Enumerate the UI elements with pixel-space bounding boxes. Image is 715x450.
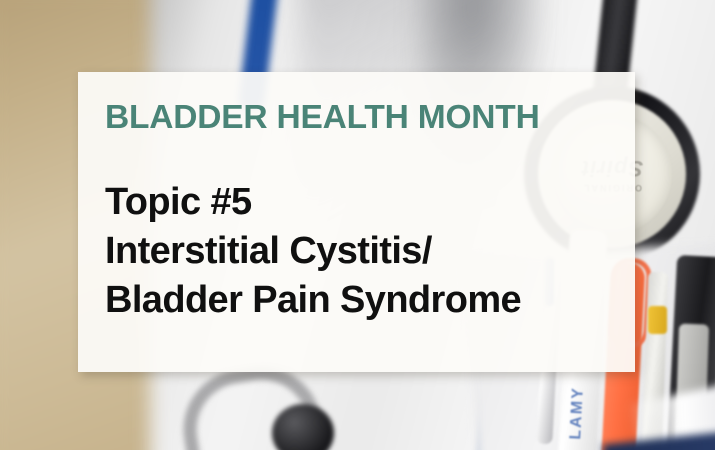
- title-card: BLADDER HEALTH MONTH Topic #5 Interstiti…: [78, 72, 635, 372]
- graphic-canvas: ORIGINAL Spirit LAMY BLADDER HEALTH MONT…: [0, 0, 715, 450]
- title-line-2: Interstitial Cystitis/: [105, 227, 521, 276]
- campaign-eyebrow: BLADDER HEALTH MONTH: [105, 101, 540, 135]
- pen-steel-yellow-clip: [648, 306, 667, 334]
- title-line-1: Topic #5: [105, 178, 521, 227]
- page-title: Topic #5 Interstitial Cystitis/ Bladder …: [105, 178, 521, 325]
- title-line-3: Bladder Pain Syndrome: [105, 276, 521, 325]
